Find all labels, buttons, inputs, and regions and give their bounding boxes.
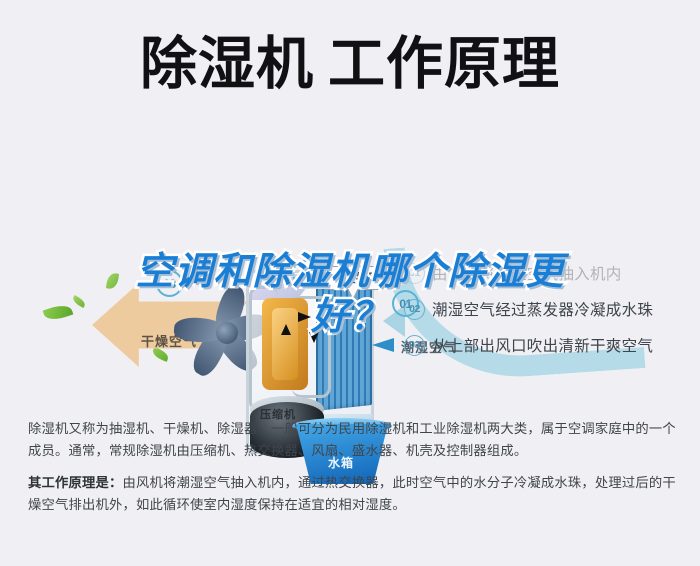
body-text: 除湿机又称为抽湿机、干燥机、除湿器，一般可分为民用除湿机和工业除湿机两大类，属于… — [28, 418, 676, 526]
body-paragraph-2-lead: 其工作原理是： — [28, 475, 122, 490]
page-title: 除湿机工作原理 — [0, 28, 700, 100]
overlay-headline-line2: 好？ — [0, 295, 700, 340]
page-title-part1: 除湿机 — [140, 32, 314, 96]
page-title-part2: 工作原理 — [328, 32, 560, 96]
body-paragraph-1: 除湿机又称为抽湿机、干燥机、除湿器，一般可分为民用除湿机和工业除湿机两大类，属于… — [28, 418, 676, 462]
poster-canvas: 除湿机工作原理 干燥空气 潮湿空气 — [0, 0, 700, 566]
body-paragraph-2: 其工作原理是：由风机将潮湿空气抽入机内，通过热交换器，此时空气中的水分子冷凝成水… — [28, 472, 676, 516]
air-intake-arrow-icon — [372, 338, 394, 352]
body-paragraph-2-text: 由风机将潮湿空气抽入机内，通过热交换器，此时空气中的水分子冷凝成水珠，处理过后的… — [28, 475, 676, 512]
